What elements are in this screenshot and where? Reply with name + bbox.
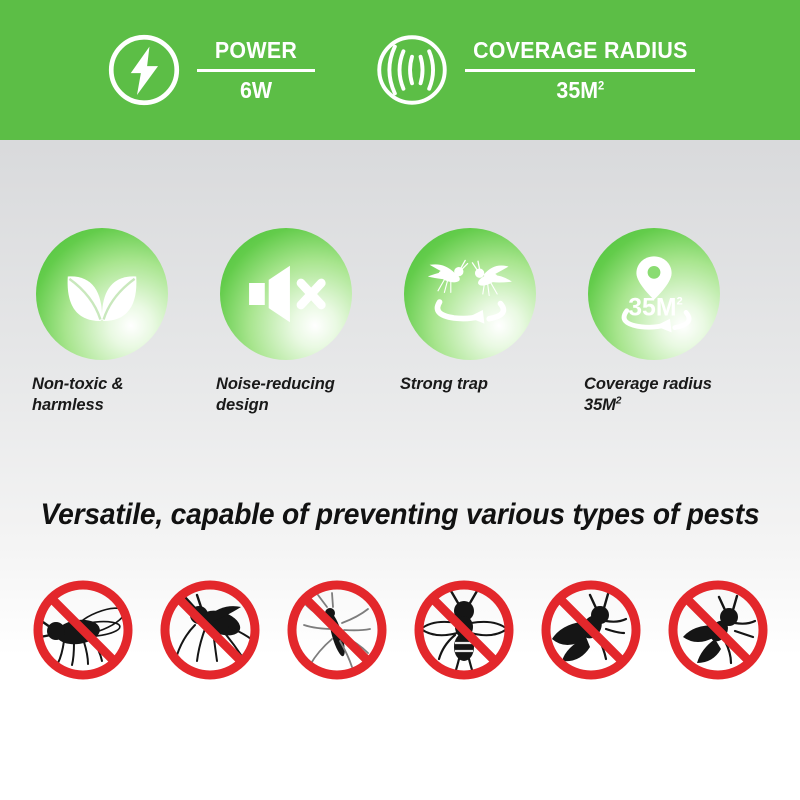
feature-coverage-radius: 35M 2 Coverage radius35M2	[584, 228, 768, 416]
feature-icon-circle	[404, 228, 536, 360]
spec-coverage-value: 35M2	[473, 77, 688, 103]
spec-banner: POWER 6W COVERAGE RADIUS 35M2	[0, 0, 800, 140]
pest-icon-row	[0, 575, 800, 685]
no-wasp-icon	[409, 575, 519, 685]
mosquitoes-swirl-icon	[422, 252, 518, 336]
coverage-pin-superscript: 2	[676, 295, 682, 307]
coverage-pin-icon: 35M 2	[606, 250, 702, 338]
feature-label: Noise-reducingdesign	[216, 374, 335, 416]
spec-divider	[197, 69, 315, 72]
feature-noise-reducing: Noise-reducingdesign	[216, 228, 400, 416]
spec-coverage-title: COVERAGE RADIUS	[473, 37, 688, 63]
no-mosquito-icon	[155, 575, 265, 685]
coverage-waves-icon	[373, 31, 451, 109]
feature-icon-circle	[220, 228, 352, 360]
feature-label: Coverage radius35M2	[584, 374, 712, 416]
spec-coverage: COVERAGE RADIUS 35M2	[373, 31, 696, 109]
coverage-pin-value: 35M	[628, 295, 676, 322]
product-infographic: POWER 6W COVERAGE RADIUS 35M2	[0, 0, 800, 800]
no-gnat-icon	[282, 575, 392, 685]
page-headline: Versatile, capable of preventing various…	[24, 498, 776, 532]
spec-coverage-text: COVERAGE RADIUS 35M2	[465, 37, 696, 104]
spec-power-value: 6W	[201, 77, 311, 103]
feature-label: Non-toxic &harmless	[32, 374, 123, 416]
feature-icon-circle: 35M 2	[588, 228, 720, 360]
feature-strong-trap: Strong trap	[400, 228, 584, 416]
feature-list: Non-toxic &harmless Noise-reducingdesign	[0, 228, 800, 416]
feature-label: Strong trap	[400, 374, 488, 395]
power-bolt-icon	[105, 31, 183, 109]
no-fly-icon	[28, 575, 138, 685]
spec-power-text: POWER 6W	[197, 37, 315, 104]
feature-icon-circle	[36, 228, 168, 360]
no-housefly-icon	[663, 575, 773, 685]
spec-power-title: POWER	[201, 37, 311, 63]
spec-divider	[465, 69, 696, 72]
leaves-icon	[58, 259, 146, 329]
feature-non-toxic: Non-toxic &harmless	[32, 228, 216, 416]
spec-power: POWER 6W	[105, 31, 315, 109]
no-moth-icon	[536, 575, 646, 685]
muted-speaker-icon	[242, 261, 330, 327]
